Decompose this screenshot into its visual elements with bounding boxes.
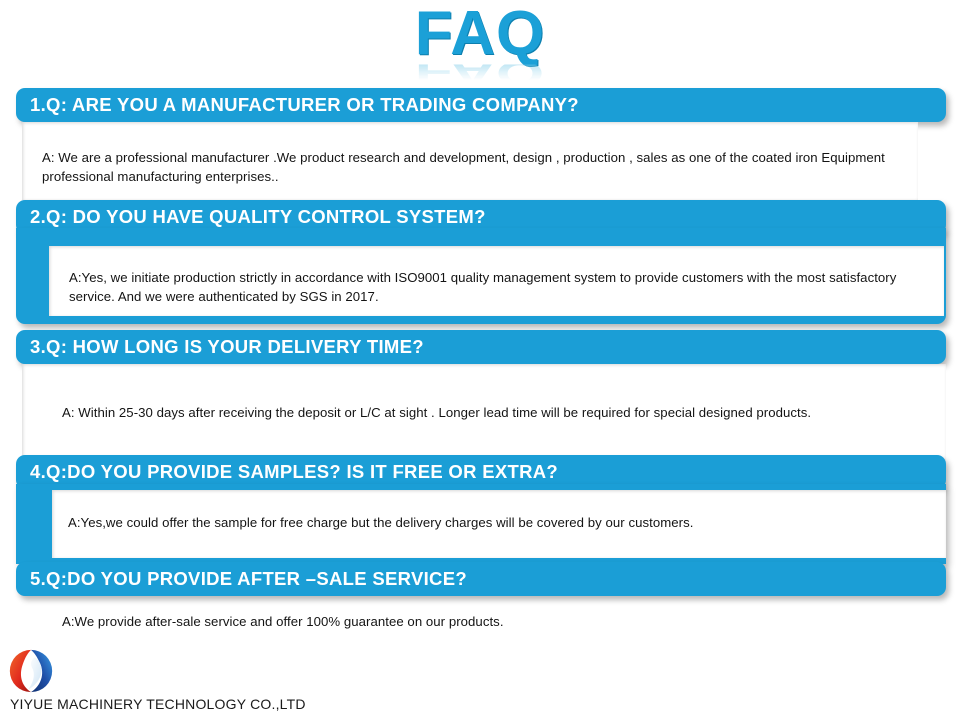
faq-answer-text-2: A:Yes, we initiate production strictly i… — [69, 268, 941, 306]
faq-answer-text-5: A:We provide after-sale service and offe… — [62, 612, 922, 631]
page-title-reflection: FAQ — [0, 64, 960, 80]
yiyue-logo-icon — [8, 648, 54, 694]
faq-question-label-5: 5.Q:DO YOU PROVIDE AFTER –SALE SERVICE? — [30, 568, 467, 590]
faq-answer-text-1: A: We are a professional manufacturer .W… — [42, 148, 898, 186]
faq-answer-text-4: A:Yes,we could offer the sample for free… — [68, 513, 934, 532]
faq-question-label-1: 1.Q: ARE YOU A MANUFACTURER OR TRADING C… — [30, 94, 579, 116]
faq-question-bar-3[interactable]: 3.Q: HOW LONG IS YOUR DELIVERY TIME? — [16, 330, 946, 364]
faq-question-bar-5[interactable]: 5.Q:DO YOU PROVIDE AFTER –SALE SERVICE? — [16, 562, 946, 596]
faq-answer-text-3: A: Within 25-30 days after receiving the… — [62, 403, 872, 422]
footer-company-name: YIYUE MACHINERY TECHNOLOGY CO.,LTD — [10, 696, 306, 712]
page-title: FAQ — [0, 2, 960, 66]
faq-question-label-2: 2.Q: DO YOU HAVE QUALITY CONTROL SYSTEM? — [30, 206, 486, 228]
faq-question-bar-1[interactable]: 1.Q: ARE YOU A MANUFACTURER OR TRADING C… — [16, 88, 946, 122]
faq-question-label-3: 3.Q: HOW LONG IS YOUR DELIVERY TIME? — [30, 336, 424, 358]
faq-question-label-4: 4.Q:DO YOU PROVIDE SAMPLES? IS IT FREE O… — [30, 461, 558, 483]
page-title-block: FAQ FAQ — [0, 2, 960, 94]
